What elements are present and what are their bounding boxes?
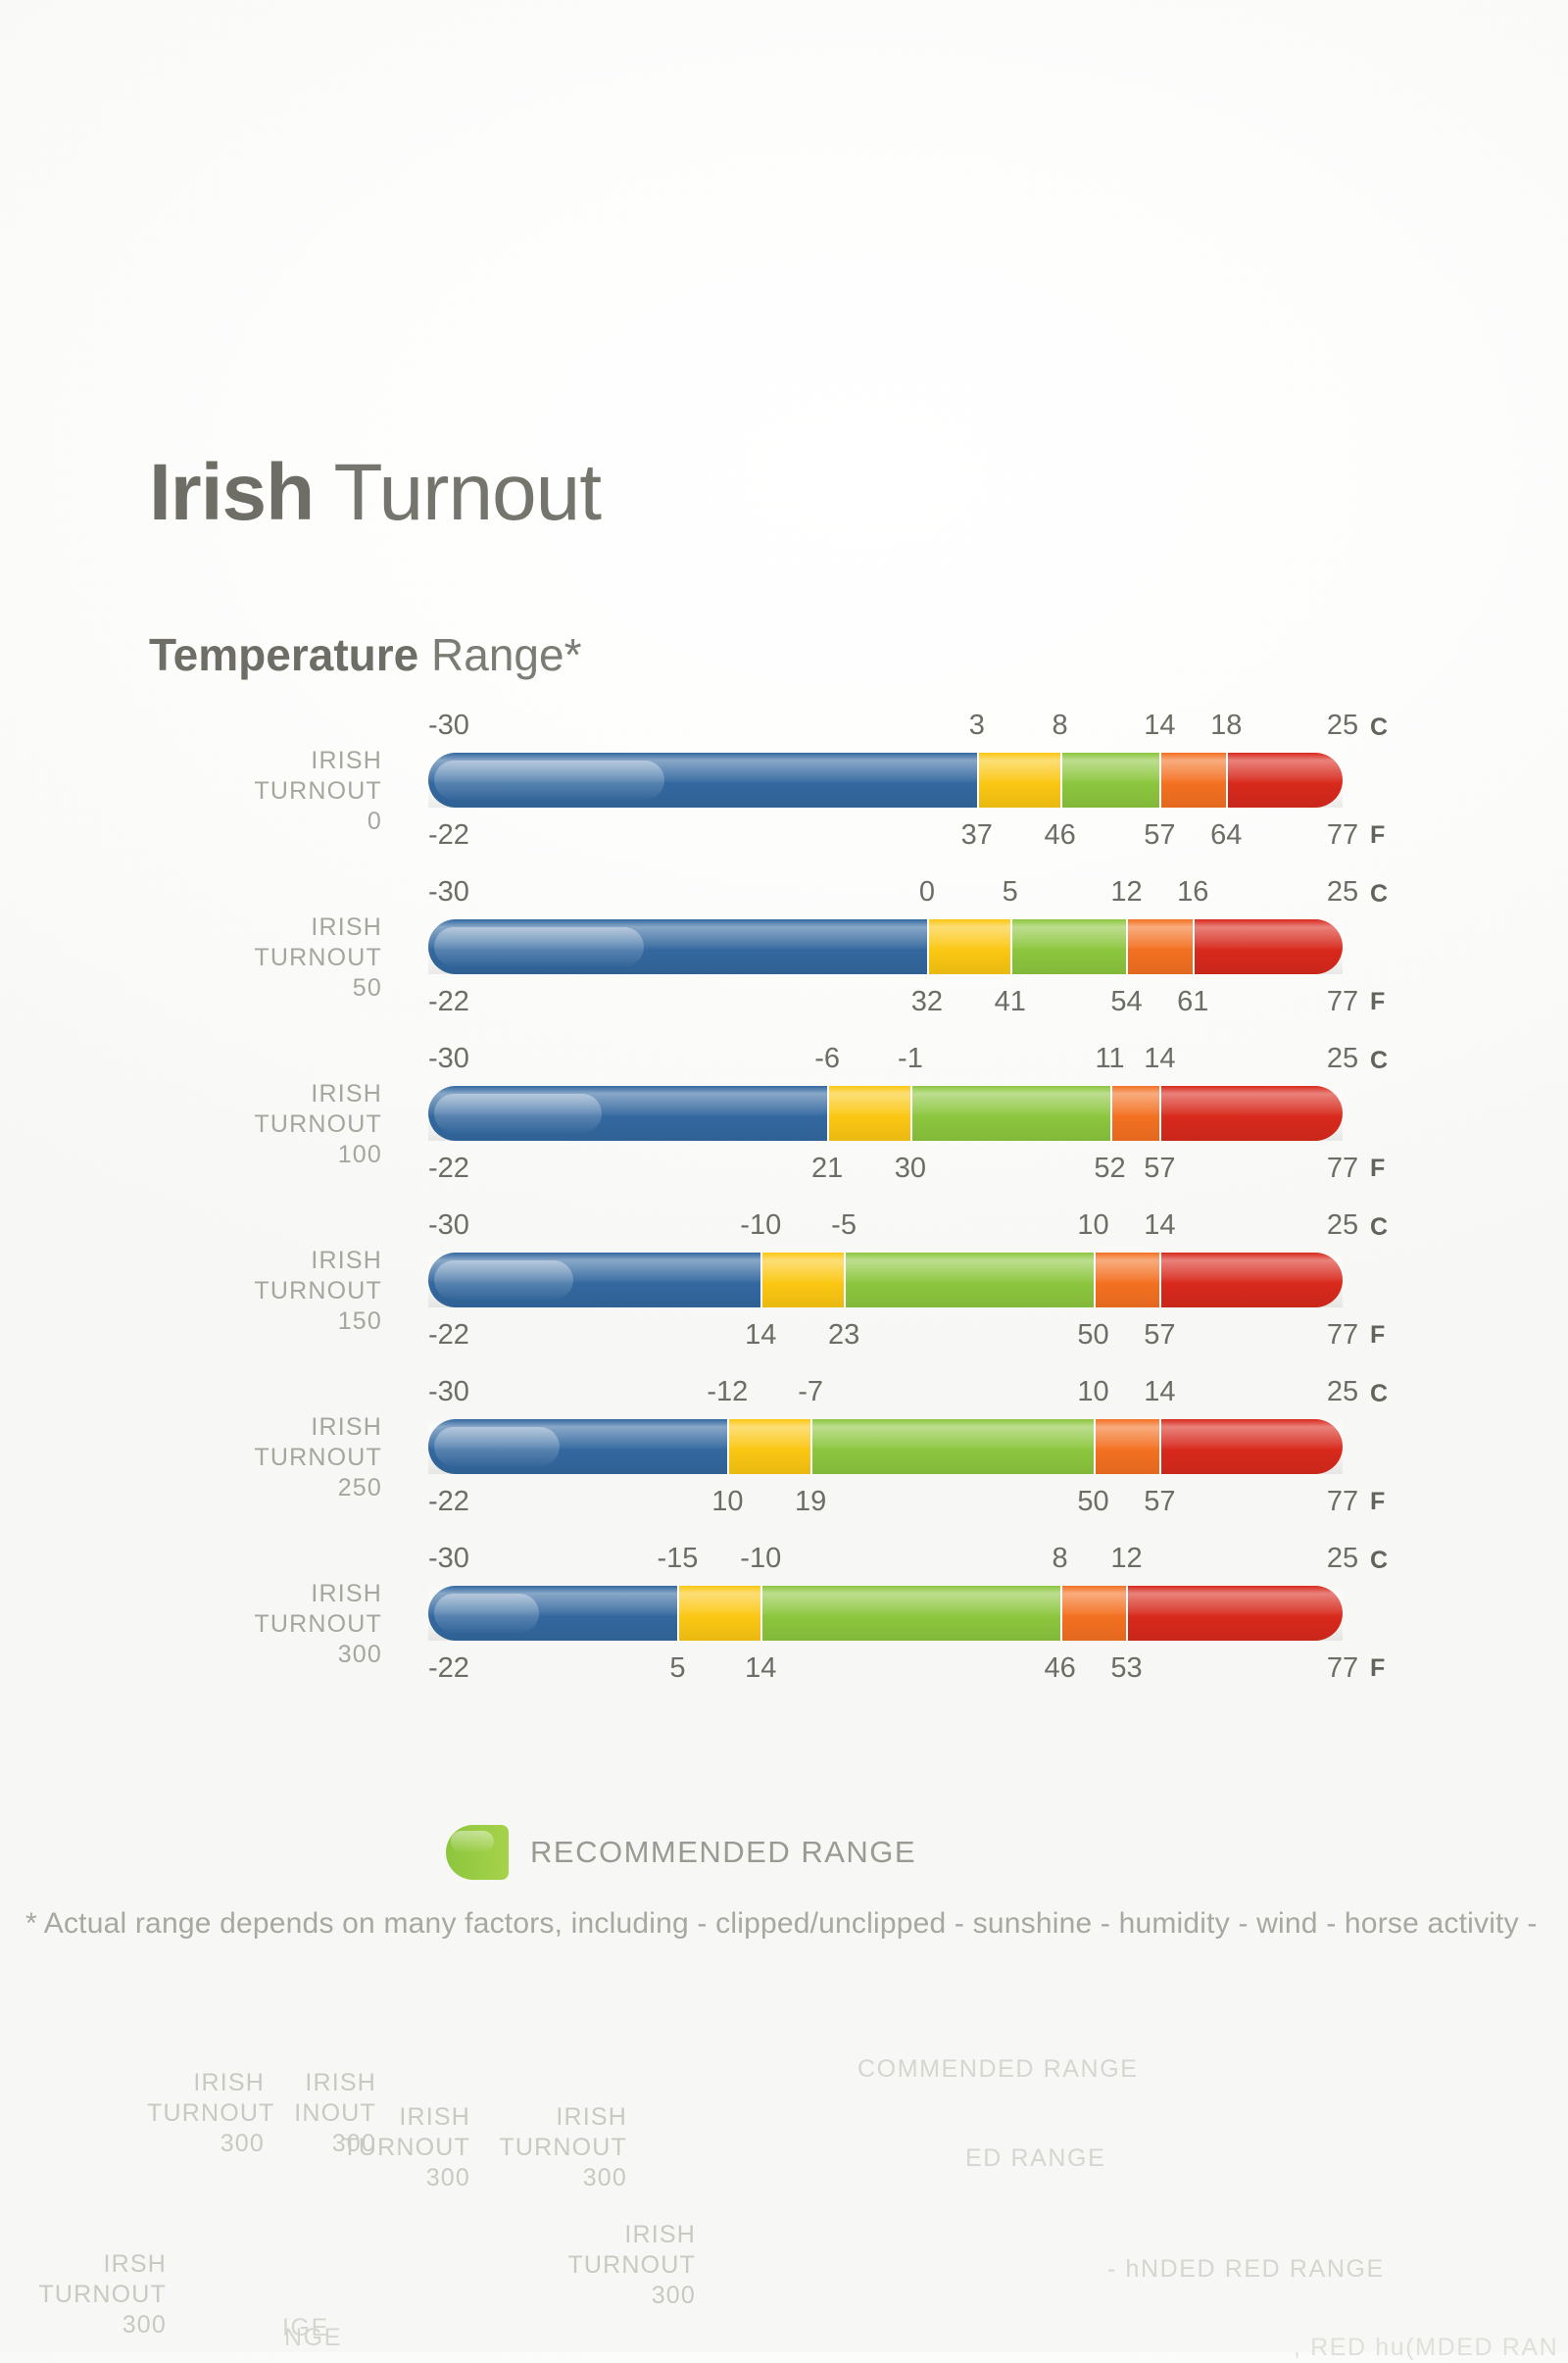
segment-gloss (1128, 919, 1193, 974)
tick-fahrenheit: 57 (1144, 821, 1175, 850)
segment-gloss (762, 1253, 844, 1307)
unit-celsius: C (1370, 1380, 1389, 1408)
unit-fahrenheit: F (1370, 988, 1386, 1016)
chart-row: IRISH TURNOUT 100-30-22-621-130115214572… (0, 1045, 1568, 1211)
tick-celsius: -10 (740, 1545, 781, 1573)
tick-celsius: 8 (1053, 712, 1068, 740)
bar-segment-warm (1159, 753, 1226, 808)
unit-celsius: C (1370, 1213, 1389, 1242)
segment-gloss (1161, 1253, 1343, 1307)
segment-gloss (1161, 753, 1226, 808)
bar-segment-cool (677, 1586, 760, 1641)
row-label: IRISH TURNOUT 300 (49, 1579, 382, 1670)
segment-gloss (1112, 1086, 1160, 1141)
tick-celsius: 5 (1003, 878, 1018, 907)
tick-fahrenheit: 77 (1327, 1155, 1358, 1183)
segment-gloss (912, 1086, 1110, 1141)
tick-celsius: -5 (831, 1211, 857, 1240)
recommended-range-swatch (446, 1825, 509, 1880)
unit-celsius: C (1370, 714, 1389, 742)
tick-fahrenheit: 10 (711, 1488, 743, 1516)
bar-segment-too-cold (428, 1253, 760, 1307)
tick-celsius: 10 (1077, 1378, 1108, 1406)
tick-celsius: 16 (1177, 878, 1208, 907)
tick-celsius: 8 (1053, 1545, 1068, 1573)
tick-fahrenheit: 57 (1144, 1155, 1175, 1183)
chart-row: IRISH TURNOUT 50-30-22032541125416612577… (0, 878, 1568, 1045)
bar-segment-too-warm (1226, 753, 1343, 808)
unit-celsius: C (1370, 1547, 1389, 1575)
tick-fahrenheit: -22 (428, 1321, 469, 1350)
tick-fahrenheit: -22 (428, 1488, 469, 1516)
tick-fahrenheit: 64 (1210, 821, 1242, 850)
segment-gloss (428, 1253, 760, 1307)
bar-segment-too-cold (428, 1086, 827, 1141)
ghost-text: - hNDED RED RANGE (1107, 2254, 1539, 2285)
ghost-text: IRISH TURNOUT 300 (333, 2102, 470, 2193)
tick-celsius: 14 (1144, 712, 1175, 740)
tick-fahrenheit: 30 (895, 1155, 926, 1183)
tick-celsius: 14 (1144, 1211, 1175, 1240)
bar-segment-too-warm (1159, 1086, 1343, 1141)
tick-celsius: -30 (428, 1378, 469, 1406)
bar-segment-warm (1110, 1086, 1160, 1141)
tick-fahrenheit: 57 (1144, 1321, 1175, 1350)
temperature-range-chart: IRISH TURNOUT 0-30-22337846145718642577C… (0, 712, 1568, 1711)
bar-segment-cool (977, 753, 1060, 808)
segment-gloss (979, 753, 1060, 808)
tick-celsius: 25 (1327, 1045, 1358, 1073)
tick-fahrenheit: 77 (1327, 1654, 1358, 1683)
chart-row: IRISH TURNOUT 0-30-22337846145718642577C… (0, 712, 1568, 878)
tick-celsius: -10 (740, 1211, 781, 1240)
section-subtitle: Temperature Range* (149, 632, 581, 677)
tick-fahrenheit: 5 (669, 1654, 685, 1683)
unit-fahrenheit: F (1370, 1155, 1386, 1183)
ghost-text: COMMENDED RANGE (857, 2054, 1269, 2085)
tick-fahrenheit: 41 (995, 988, 1026, 1016)
footnote: * Actual range depends on many factors, … (25, 1907, 1568, 1941)
tick-fahrenheit: -22 (428, 988, 469, 1016)
bar-segment-recommended-range (910, 1086, 1110, 1141)
tick-celsius: 14 (1144, 1045, 1175, 1073)
bar-segment-too-cold (428, 753, 977, 808)
segment-gloss (679, 1586, 760, 1641)
tick-celsius: 14 (1144, 1378, 1175, 1406)
segment-gloss (1161, 1086, 1343, 1141)
row-label: IRISH TURNOUT 100 (49, 1079, 382, 1170)
tick-fahrenheit: 46 (1044, 1654, 1075, 1683)
tick-fahrenheit: 50 (1077, 1321, 1108, 1350)
tick-fahrenheit: 23 (828, 1321, 859, 1350)
tick-fahrenheit: 53 (1110, 1654, 1142, 1683)
tick-celsius: 12 (1110, 878, 1142, 907)
page-title-bold: Irish (149, 448, 314, 537)
tick-fahrenheit: 57 (1144, 1488, 1175, 1516)
temperature-bar (428, 1419, 1343, 1474)
temperature-bar (428, 753, 1343, 808)
tick-fahrenheit: 77 (1327, 988, 1358, 1016)
row-label: IRISH TURNOUT 0 (49, 746, 382, 837)
section-subtitle-bold: Temperature (149, 629, 418, 680)
page-title-light: Turnout (333, 448, 601, 537)
tick-celsius: 3 (969, 712, 985, 740)
segment-gloss (929, 919, 1010, 974)
ghost-text: , RED hu(MDED RAN (1294, 2333, 1568, 2363)
bar-segment-too-warm (1193, 919, 1343, 974)
tick-celsius: -15 (657, 1545, 698, 1573)
row-label: IRISH TURNOUT 150 (49, 1246, 382, 1337)
unit-celsius: C (1370, 880, 1389, 909)
unit-fahrenheit: F (1370, 1654, 1386, 1683)
tick-fahrenheit: 14 (745, 1321, 776, 1350)
ghost-text: IGE (282, 2313, 400, 2343)
tick-fahrenheit: 61 (1177, 988, 1208, 1016)
tick-celsius: -30 (428, 712, 469, 740)
section-subtitle-light: Range* (431, 629, 581, 680)
bar-segment-too-warm (1159, 1253, 1343, 1307)
ghost-text: IRISH INOUT 300 (269, 2068, 376, 2159)
tick-fahrenheit: 19 (795, 1488, 826, 1516)
bar-segment-cool (927, 919, 1010, 974)
legend-label: RECOMMENDED RANGE (530, 1835, 916, 1870)
tick-fahrenheit: 14 (745, 1654, 776, 1683)
bar-segment-warm (1094, 1419, 1160, 1474)
chart-legend: RECOMMENDED RANGE (446, 1825, 916, 1880)
tick-fahrenheit: 77 (1327, 1488, 1358, 1516)
segment-gloss (1228, 753, 1343, 808)
segment-gloss (428, 1586, 677, 1641)
segment-gloss (729, 1419, 810, 1474)
bar-segment-warm (1126, 919, 1193, 974)
tick-celsius: 11 (1095, 1045, 1124, 1073)
ghost-text: ED RANGE (965, 2143, 1220, 2174)
tick-fahrenheit: -22 (428, 1654, 469, 1683)
segment-gloss (1096, 1419, 1160, 1474)
tick-celsius: 25 (1327, 1545, 1358, 1573)
tick-fahrenheit: 77 (1327, 1321, 1358, 1350)
tick-celsius: 25 (1327, 1211, 1358, 1240)
tick-fahrenheit: 32 (911, 988, 943, 1016)
tick-celsius: -6 (814, 1045, 840, 1073)
segment-gloss (762, 1586, 1059, 1641)
tick-fahrenheit: 37 (961, 821, 993, 850)
tick-celsius: -1 (898, 1045, 923, 1073)
tick-celsius: 25 (1327, 712, 1358, 740)
segment-gloss (1062, 753, 1160, 808)
ghost-text: IRISH TURNOUT 300 (559, 2220, 696, 2311)
chart-row: IRISH TURNOUT 250-30-22-1210-71910501457… (0, 1378, 1568, 1545)
bar-segment-warm (1094, 1253, 1160, 1307)
tick-fahrenheit: 52 (1094, 1155, 1125, 1183)
bar-segment-too-warm (1126, 1586, 1343, 1641)
bar-segment-cool (760, 1253, 844, 1307)
tick-celsius: -30 (428, 1545, 469, 1573)
bar-segment-too-cold (428, 919, 927, 974)
tick-fahrenheit: 21 (811, 1155, 843, 1183)
bar-segment-recommended-range (810, 1419, 1093, 1474)
bar-segment-warm (1060, 1586, 1127, 1641)
chart-row: IRISH TURNOUT 150-30-22-1014-52310501457… (0, 1211, 1568, 1378)
tick-celsius: -30 (428, 1045, 469, 1073)
bar-segment-recommended-range (844, 1253, 1093, 1307)
segment-gloss (428, 753, 977, 808)
tick-celsius: 18 (1210, 712, 1242, 740)
unit-fahrenheit: F (1370, 821, 1386, 850)
unit-celsius: C (1370, 1047, 1389, 1075)
temperature-bar (428, 919, 1343, 974)
tick-celsius: 0 (919, 878, 935, 907)
segment-gloss (428, 1419, 727, 1474)
unit-fahrenheit: F (1370, 1321, 1386, 1350)
tick-fahrenheit: -22 (428, 1155, 469, 1183)
bar-segment-recommended-range (760, 1586, 1059, 1641)
segment-gloss (428, 1086, 827, 1141)
bar-segment-too-warm (1159, 1419, 1343, 1474)
temperature-bar (428, 1586, 1343, 1641)
tick-fahrenheit: 50 (1077, 1488, 1108, 1516)
temperature-bar (428, 1253, 1343, 1307)
segment-gloss (846, 1253, 1093, 1307)
tick-celsius: 12 (1110, 1545, 1142, 1573)
bar-segment-cool (827, 1086, 910, 1141)
segment-gloss (1195, 919, 1343, 974)
bar-segment-too-cold (428, 1586, 677, 1641)
ghost-text: IRISH TURNOUT 300 (490, 2102, 627, 2193)
segment-gloss (1062, 1586, 1127, 1641)
tick-celsius: -12 (707, 1378, 748, 1406)
tick-celsius: -30 (428, 878, 469, 907)
segment-gloss (1096, 1253, 1160, 1307)
tick-celsius: -7 (798, 1378, 823, 1406)
ghost-text: IRISH TURNOUT 300 (147, 2068, 265, 2159)
row-label: IRISH TURNOUT 50 (49, 912, 382, 1004)
tick-fahrenheit: 46 (1044, 821, 1075, 850)
temperature-bar (428, 1086, 1343, 1141)
ghost-text: IRSH TURNOUT 300 (29, 2249, 167, 2340)
bar-segment-recommended-range (1060, 753, 1160, 808)
row-label: IRISH TURNOUT 250 (49, 1412, 382, 1503)
segment-gloss (812, 1419, 1093, 1474)
ghost-text: NGE (284, 2323, 402, 2353)
segment-gloss (1161, 1419, 1343, 1474)
segment-gloss (1128, 1586, 1343, 1641)
tick-fahrenheit: -22 (428, 821, 469, 850)
bar-segment-cool (727, 1419, 810, 1474)
segment-gloss (1012, 919, 1127, 974)
bar-segment-recommended-range (1010, 919, 1127, 974)
unit-fahrenheit: F (1370, 1488, 1386, 1516)
tick-fahrenheit: 77 (1327, 821, 1358, 850)
tick-celsius: -30 (428, 1211, 469, 1240)
tick-celsius: 25 (1327, 878, 1358, 907)
chart-row: IRISH TURNOUT 300-30-22-155-101484612532… (0, 1545, 1568, 1711)
page-title: Irish Turnout (149, 453, 601, 533)
segment-gloss (829, 1086, 910, 1141)
bar-segment-too-cold (428, 1419, 727, 1474)
tick-fahrenheit: 54 (1110, 988, 1142, 1016)
segment-gloss (428, 919, 927, 974)
tick-celsius: 25 (1327, 1378, 1358, 1406)
tick-celsius: 10 (1077, 1211, 1108, 1240)
